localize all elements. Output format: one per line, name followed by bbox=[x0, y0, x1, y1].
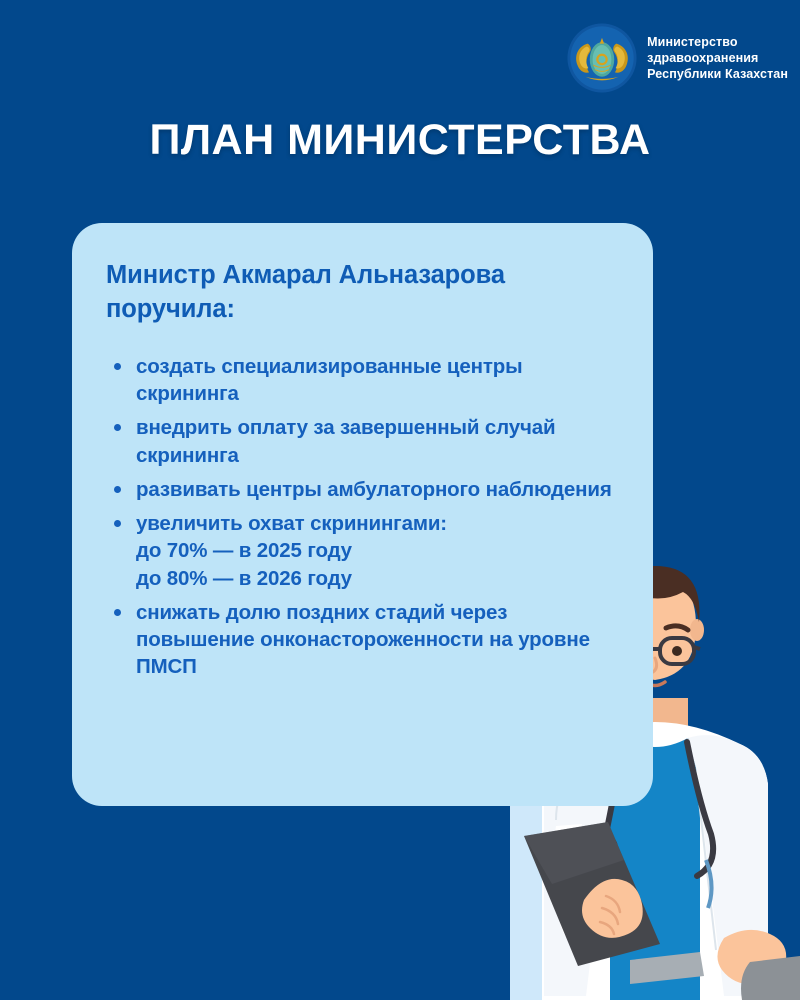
list-item: развивать центры амбулаторного наблюдени… bbox=[106, 476, 619, 503]
list-item-text: создать специализированные центры скрини… bbox=[136, 355, 522, 405]
list-item: внедрить оплату за завершенный случай ск… bbox=[106, 414, 619, 469]
list-item: создать специализированные центры скрини… bbox=[106, 353, 619, 408]
bullet-dot-icon bbox=[114, 609, 121, 616]
ministry-line-3: Республики Казахстан bbox=[647, 66, 788, 82]
list-item-subline: до 80% — в 2026 году bbox=[136, 565, 619, 592]
poster: Министерство здравоохранения Республики … bbox=[0, 0, 800, 1000]
list-item-subline: до 70% — в 2025 году bbox=[136, 537, 619, 564]
page-title: ПЛАН МИНИСТЕРСТВА bbox=[0, 116, 800, 165]
list-item-text: снижать долю поздних стадий через повыше… bbox=[136, 601, 590, 679]
list-item-text: внедрить оплату за завершенный случай ск… bbox=[136, 416, 555, 466]
instructions-card: Министр Акмарал Альназарова поручила: со… bbox=[72, 223, 653, 806]
card-heading: Министр Акмарал Альназарова поручила: bbox=[106, 259, 619, 327]
ministry-brand: Министерство здравоохранения Республики … bbox=[566, 22, 788, 94]
ministry-line-2: здравоохранения bbox=[647, 50, 788, 66]
ministry-name: Министерство здравоохранения Республики … bbox=[647, 34, 788, 83]
bullet-dot-icon bbox=[114, 424, 121, 431]
list-item-text: увеличить охват скринингами: bbox=[136, 512, 447, 535]
instruction-list: создать специализированные центры скрини… bbox=[106, 353, 619, 681]
list-item: снижать долю поздних стадий через повыше… bbox=[106, 599, 619, 681]
bullet-dot-icon bbox=[114, 520, 121, 527]
bullet-dot-icon bbox=[114, 363, 121, 370]
ministry-line-1: Министерство bbox=[647, 34, 788, 50]
list-item-text: развивать центры амбулаторного наблюдени… bbox=[136, 478, 612, 501]
bullet-dot-icon bbox=[114, 486, 121, 493]
list-item: увеличить охват скринингами:до 70% — в 2… bbox=[106, 510, 619, 592]
kazakhstan-coat-of-arms-icon bbox=[566, 22, 638, 94]
